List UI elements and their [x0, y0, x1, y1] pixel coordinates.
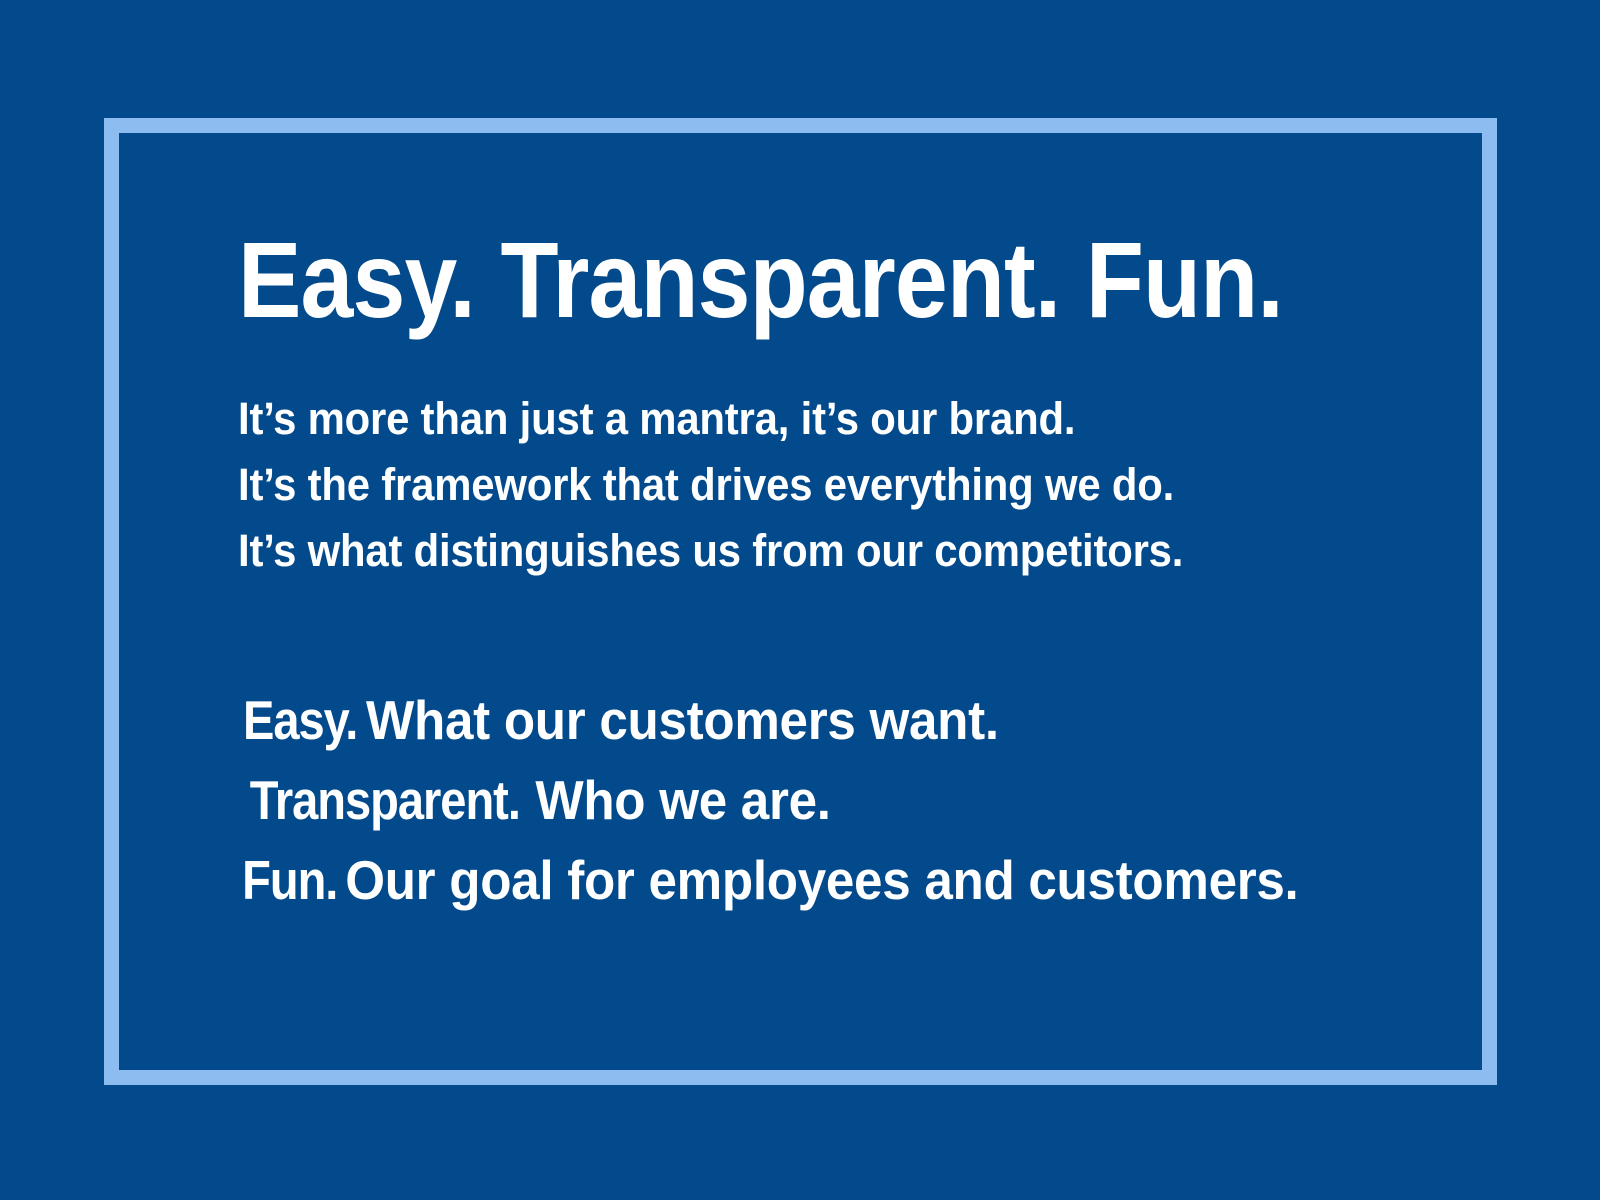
definition-description: What our customers want.	[362, 689, 998, 751]
definition-item-transparent: Transparent.Who we are.	[238, 760, 1335, 840]
brand-mantra-slide: Easy. Transparent. Fun. It’s more than j…	[0, 0, 1600, 1200]
definition-description: Our goal for employees and customers.	[341, 849, 1298, 911]
page-title: Easy. Transparent. Fun.	[238, 224, 1276, 336]
definition-item-easy: Easy.What our customers want.	[238, 680, 1335, 760]
intro-line-3: It’s what distinguishes us from our comp…	[238, 518, 1335, 584]
definition-description: Who we are.	[532, 769, 831, 831]
definition-term: Easy.	[243, 680, 357, 760]
definition-list: Easy.What our customers want. Transparen…	[238, 584, 1335, 920]
definition-term: Fun.	[242, 840, 337, 920]
intro-paragraph: It’s more than just a mantra, it’s our b…	[238, 336, 1335, 584]
slide-content: Easy. Transparent. Fun. It’s more than j…	[238, 224, 1418, 920]
definition-term: Transparent.	[250, 760, 520, 840]
intro-line-1: It’s more than just a mantra, it’s our b…	[238, 386, 1335, 452]
definition-item-fun: Fun.Our goal for employees and customers…	[238, 840, 1335, 920]
intro-line-2: It’s the framework that drives everythin…	[238, 452, 1335, 518]
